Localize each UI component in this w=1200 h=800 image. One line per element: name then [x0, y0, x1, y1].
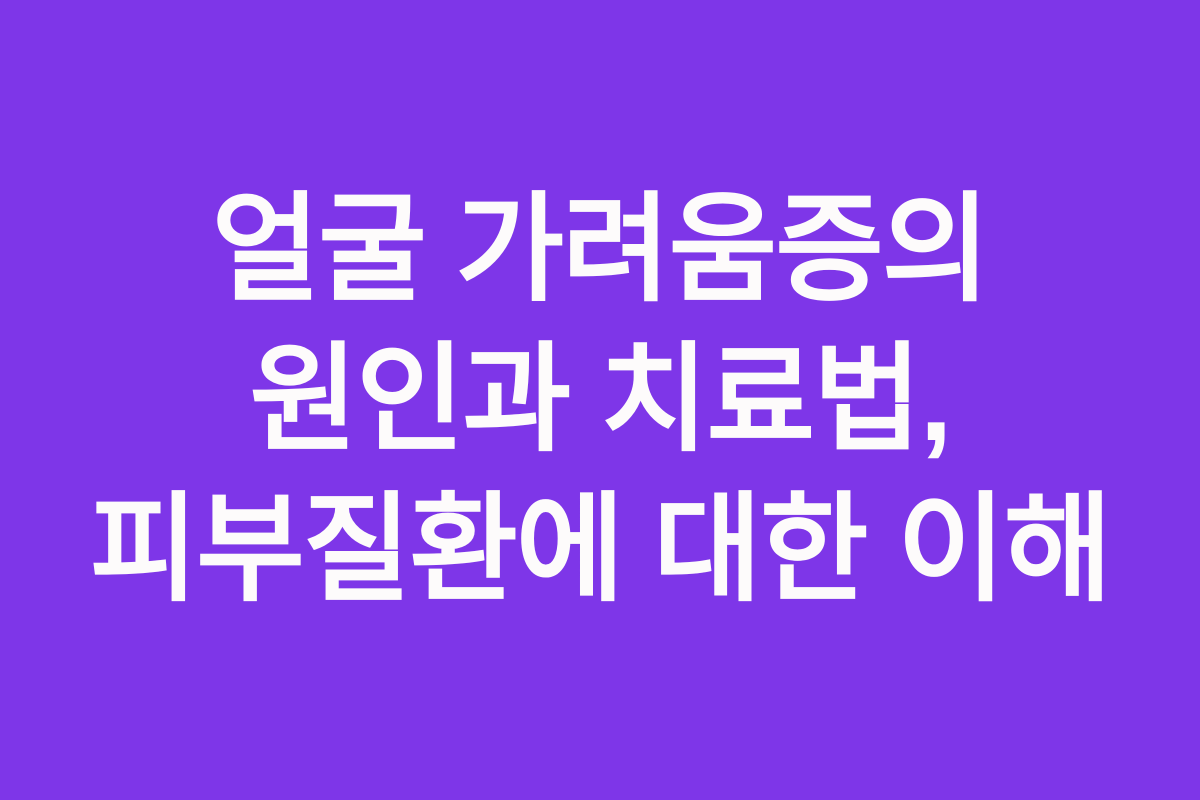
banner-title-line-3: 피부질환에 대한 이해	[20, 475, 1180, 625]
banner-title-block: 얼굴 가려움증의 원인과 치료법, 피부질환에 대한 이해	[0, 175, 1200, 625]
banner-title-line-2: 원인과 치료법,	[20, 325, 1180, 475]
banner-title-line-1: 얼굴 가려움증의	[20, 175, 1180, 325]
thumbnail-banner: 얼굴 가려움증의 원인과 치료법, 피부질환에 대한 이해	[0, 0, 1200, 800]
